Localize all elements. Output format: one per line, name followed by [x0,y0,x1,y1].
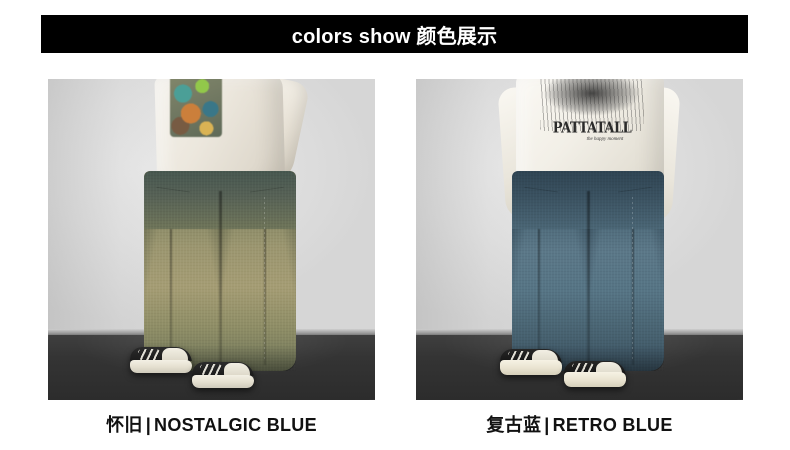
banner-title: colors show 颜色展示 [292,20,497,49]
sneaker-sole [130,360,192,373]
caption-cn-label: 怀旧 [106,415,143,435]
product-photo-retro-blue[interactable]: PATTATALL the happy moment [416,79,743,400]
model-figure-nostalgic [48,79,375,400]
caption-nostalgic-blue: 怀旧|NOSTALGIC BLUE [48,411,375,437]
jeans-nostalgic-blue [144,171,296,371]
shirt-graphic-print [170,79,222,137]
caption-retro-blue: 复古蓝|RETRO BLUE [416,411,743,437]
color-panels: 怀旧|NOSTALGIC BLUE PATTATALL the happy mo… [0,79,790,450]
sweatshirt-graphic-subtext: the happy moment [562,137,648,142]
color-panel-nostalgic-blue[interactable]: 怀旧|NOSTALGIC BLUE [48,79,375,400]
color-panel-retro-blue[interactable]: PATTATALL the happy moment [416,79,743,400]
product-photo-nostalgic-blue[interactable] [48,79,375,400]
sneaker-right [192,362,254,388]
sneaker-left [130,347,192,373]
sneaker-left [500,349,562,375]
jeans-retro-blue [512,171,664,371]
caption-separator: | [541,415,552,435]
sneaker-laces [200,364,222,375]
sneaker-laces [138,349,160,360]
caption-separator: | [143,415,154,435]
sneaker-sole [192,375,254,388]
caption-cn-label: 复古蓝 [486,415,541,435]
colors-show-banner: colors show 颜色展示 [41,15,748,53]
sneaker-sole [564,372,626,387]
denim-texture [144,171,296,371]
denim-texture [512,171,664,371]
sweatshirt-graphic-text: PATTATALL [542,120,642,137]
sneaker-sole [500,360,562,375]
caption-en-label: NOSTALGIC BLUE [154,415,317,435]
model-figure-retro: PATTATALL the happy moment [416,79,743,400]
caption-en-label: RETRO BLUE [553,415,673,435]
sneaker-right [564,361,626,387]
